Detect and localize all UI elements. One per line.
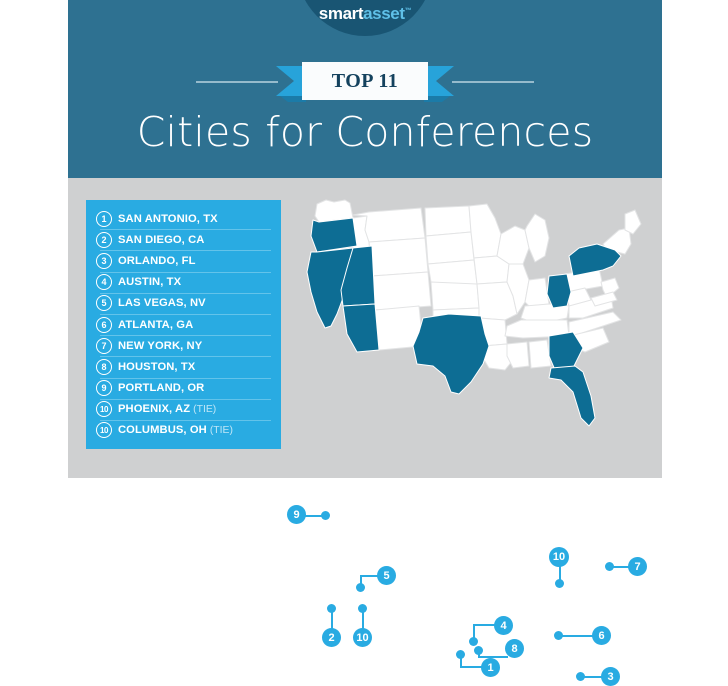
state-IN [525, 278, 549, 306]
city-label: NEW YORK, NY [118, 340, 202, 352]
state-KS [431, 282, 479, 310]
body-area: 1 SAN ANTONIO, TX 2 SAN DIEGO, CA 3 ORLA… [68, 178, 662, 478]
ribbon-rule-left [196, 81, 278, 83]
city-label: HOUSTON, TX [118, 361, 195, 373]
city-label: COLUMBUS, OH [118, 424, 207, 436]
marker-badge: 4 [494, 616, 513, 635]
list-item[interactable]: 1 SAN ANTONIO, TX [86, 208, 281, 229]
rank-badge: 4 [96, 274, 112, 290]
list-item[interactable]: 7 NEW YORK, NY [86, 335, 281, 356]
marker-badge: 2 [322, 628, 341, 647]
marker-badge: 1 [481, 658, 500, 677]
marker-badge: 6 [592, 626, 611, 645]
city-label: SAN ANTONIO, TX [118, 213, 218, 225]
city-label: ORLANDO, FL [118, 255, 196, 267]
marker-badge: 10 [549, 547, 569, 567]
rank-badge: 10 [96, 401, 112, 417]
marker-leader-line [305, 515, 325, 517]
tie-label: (TIE) [193, 404, 216, 415]
brand-logo-text: smartasset™ [297, 4, 433, 24]
rank-badge: 2 [96, 232, 112, 248]
marker-leader-line [473, 626, 475, 639]
rank-badge: 5 [96, 295, 112, 311]
rank-badge: 9 [96, 380, 112, 396]
list-item[interactable]: 10 PHOENIX, AZ (TIE) [86, 399, 281, 420]
list-item[interactable]: 6 ATLANTA, GA [86, 314, 281, 335]
rank-badge: 6 [96, 317, 112, 333]
marker-badge: 10 [353, 628, 372, 647]
rank-badge: 3 [96, 253, 112, 269]
state-OR-highlight[interactable] [311, 218, 357, 252]
state-OH-highlight[interactable] [547, 274, 571, 308]
list-item[interactable]: 8 HOUSTON, TX [86, 356, 281, 377]
city-label: LAS VEGAS, NV [118, 297, 206, 309]
trademark-symbol: ™ [405, 7, 412, 14]
city-label: ATLANTA, GA [118, 319, 193, 331]
ribbon-label: TOP 11 [332, 70, 399, 93]
marker-badge: 3 [601, 667, 620, 686]
state-ND [425, 206, 471, 236]
state-WI [497, 226, 529, 264]
marker-leader-line [362, 608, 364, 630]
marker-badge: 5 [377, 566, 396, 585]
list-item[interactable]: 2 SAN DIEGO, CA [86, 229, 281, 250]
city-label: AUSTIN, TX [118, 276, 181, 288]
marker-badge: 9 [287, 505, 306, 524]
infographic-page: smartasset™ TOP 11 Cities for Conference… [0, 0, 728, 478]
us-map-svg [273, 186, 662, 476]
list-item[interactable]: 9 PORTLAND, OR [86, 378, 281, 399]
brand-name-secondary: asset [363, 4, 404, 23]
marker-leader-line [559, 566, 561, 582]
header-band: smartasset™ TOP 11 Cities for Conference… [68, 0, 662, 178]
state-AL [529, 340, 551, 368]
list-item[interactable]: 3 ORLANDO, FL [86, 250, 281, 271]
city-label: PORTLAND, OR [118, 382, 204, 394]
ranking-list: 1 SAN ANTONIO, TX 2 SAN DIEGO, CA 3 ORLA… [86, 200, 281, 449]
marker-badge: 7 [628, 557, 647, 576]
marker-leader-line [331, 608, 333, 630]
state-CO [372, 272, 431, 310]
list-item[interactable]: 5 LAS VEGAS, NV [86, 293, 281, 314]
rank-badge: 10 [96, 422, 112, 438]
state-MI [525, 214, 549, 262]
list-item[interactable]: 10 COLUMBUS, OH (TIE) [86, 420, 281, 441]
list-item[interactable]: 4 AUSTIN, TX [86, 272, 281, 293]
marker-badge: 8 [505, 639, 524, 658]
city-label: PHOENIX, AZ [118, 403, 190, 415]
state-FL-highlight[interactable] [549, 366, 595, 426]
state-MN [469, 204, 501, 258]
state-WY [369, 238, 428, 276]
state-ME [625, 210, 641, 234]
marker-leader-line [558, 635, 594, 637]
state-MDDE [591, 292, 617, 306]
city-label: SAN DIEGO, CA [118, 234, 204, 246]
state-TX-highlight[interactable] [413, 314, 489, 394]
state-AZ-highlight[interactable] [343, 304, 379, 352]
rank-badge: 1 [96, 211, 112, 227]
top-ribbon: TOP 11 [68, 62, 662, 102]
us-map: 9 5 2 10 [273, 186, 662, 476]
ribbon-center-plate: TOP 11 [302, 62, 428, 100]
ribbon-rule-right [452, 81, 534, 83]
brand-name-primary: smart [319, 4, 363, 23]
page-title: Cities for Conferences [68, 108, 662, 156]
marker-leader-line [360, 577, 362, 587]
state-SD [426, 232, 474, 264]
brand-logo[interactable]: smartasset™ [297, 0, 433, 36]
rank-badge: 8 [96, 359, 112, 375]
tie-label: (TIE) [210, 425, 233, 436]
rank-badge: 7 [96, 338, 112, 354]
